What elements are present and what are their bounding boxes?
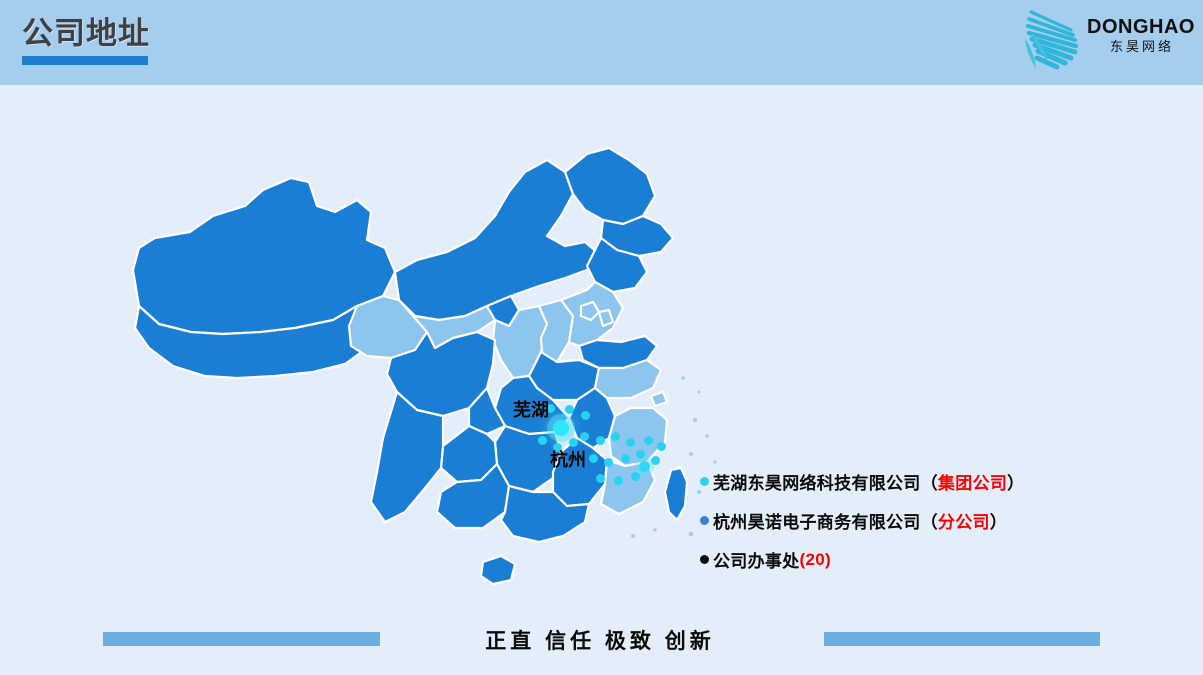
donghao-fan-logo-icon (1021, 8, 1089, 70)
marker-office[interactable] (581, 411, 590, 420)
marker-office[interactable] (604, 458, 613, 467)
marker-office[interactable] (631, 472, 640, 481)
marker-office[interactable] (614, 476, 623, 485)
title-underline (22, 56, 148, 65)
legend-company-name: 杭州昊诺电子商务有限公司 (713, 508, 921, 533)
china-map: 芜湖 杭州 (95, 120, 735, 600)
legend-close-paren: ） (990, 508, 1007, 533)
legend-office-count: (20) (800, 550, 831, 570)
marker-office[interactable] (644, 436, 653, 445)
logo-text-block: DONGHAO 东昊网络 (1087, 16, 1195, 56)
legend-item-offices[interactable]: 公司办事处 (20) (700, 540, 1120, 579)
footer-bar-left (103, 632, 380, 646)
page-title-block: 公司地址 (22, 16, 150, 65)
office-bullet-icon (700, 555, 709, 564)
branch-bullet-icon (700, 516, 709, 525)
legend-open-paren: （ (921, 508, 938, 533)
marker-office[interactable] (596, 474, 605, 483)
legend-list: 芜湖东昊网络科技有限公司 （ 集团公司 ） 杭州昊诺电子商务有限公司 （ 分公司… (700, 462, 1120, 579)
slide-canvas: 公司地址 DO (0, 0, 1203, 675)
city-label-hangzhou: 杭州 (550, 450, 586, 470)
slide-header: 公司地址 DO (0, 0, 1203, 85)
marker-office[interactable] (611, 432, 620, 441)
marker-office[interactable] (621, 454, 630, 463)
marker-office[interactable] (589, 454, 598, 463)
group-bullet-icon (700, 477, 709, 486)
marker-office[interactable] (596, 436, 605, 445)
marker-office[interactable] (538, 436, 547, 445)
marker-branch-hangzhou[interactable] (639, 461, 650, 472)
footer-bar-right (824, 632, 1100, 646)
marker-office[interactable] (657, 442, 666, 451)
page-title: 公司地址 (22, 16, 150, 52)
company-logo: DONGHAO 东昊网络 (1021, 6, 1193, 72)
legend-open-paren: （ (921, 469, 938, 494)
city-label-wuhu: 芜湖 (513, 400, 549, 420)
marker-office[interactable] (565, 405, 574, 414)
marker-office[interactable] (626, 438, 635, 447)
logo-name-en: DONGHAO (1087, 16, 1195, 38)
legend-close-paren: ） (1007, 469, 1024, 494)
legend-branch-tag: 分公司 (938, 508, 990, 533)
marker-office[interactable] (651, 456, 660, 465)
legend-company-name: 芜湖东昊网络科技有限公司 (713, 469, 921, 494)
marker-office[interactable] (569, 438, 578, 447)
legend-group-tag: 集团公司 (938, 469, 1007, 494)
legend-company-name: 公司办事处 (713, 547, 800, 572)
marker-headquarters-wuhu[interactable] (553, 420, 569, 436)
logo-name-cn: 东昊网络 (1087, 38, 1195, 56)
legend-item-group-company[interactable]: 芜湖东昊网络科技有限公司 （ 集团公司 ） (700, 462, 1120, 501)
legend-item-branch-company[interactable]: 杭州昊诺电子商务有限公司 （ 分公司 ） (700, 501, 1120, 540)
marker-office[interactable] (636, 450, 645, 459)
footer-slogan: 正直 信任 极致 创新 (440, 625, 760, 655)
marker-office[interactable] (580, 432, 589, 441)
china-map-svg (95, 120, 735, 600)
